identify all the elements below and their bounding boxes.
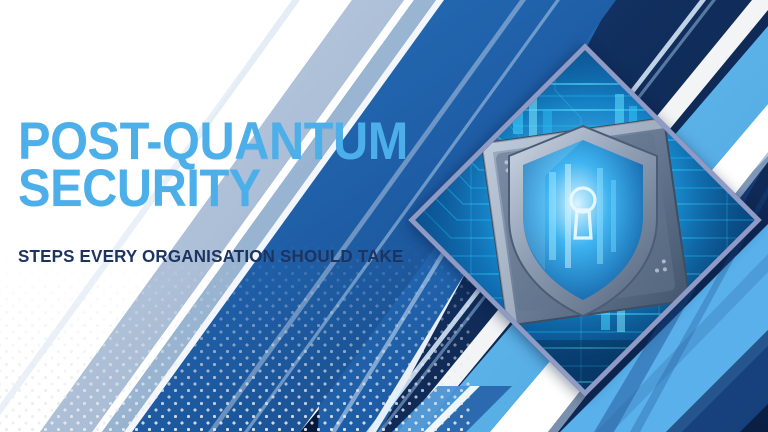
text-block: POST-QUANTUM SECURITY STEPS EVERY ORGANI… <box>18 118 442 267</box>
page-title: POST-QUANTUM SECURITY <box>18 118 408 212</box>
title-line-2: SECURITY <box>18 165 408 212</box>
diamond-graphic <box>405 40 755 390</box>
security-chip-illustration <box>408 43 762 397</box>
banner: POST-QUANTUM SECURITY STEPS EVERY ORGANI… <box>0 0 768 432</box>
diamond-frame <box>408 43 762 397</box>
page-subtitle: STEPS EVERY ORGANISATION SHOULD TAKE <box>18 212 429 267</box>
